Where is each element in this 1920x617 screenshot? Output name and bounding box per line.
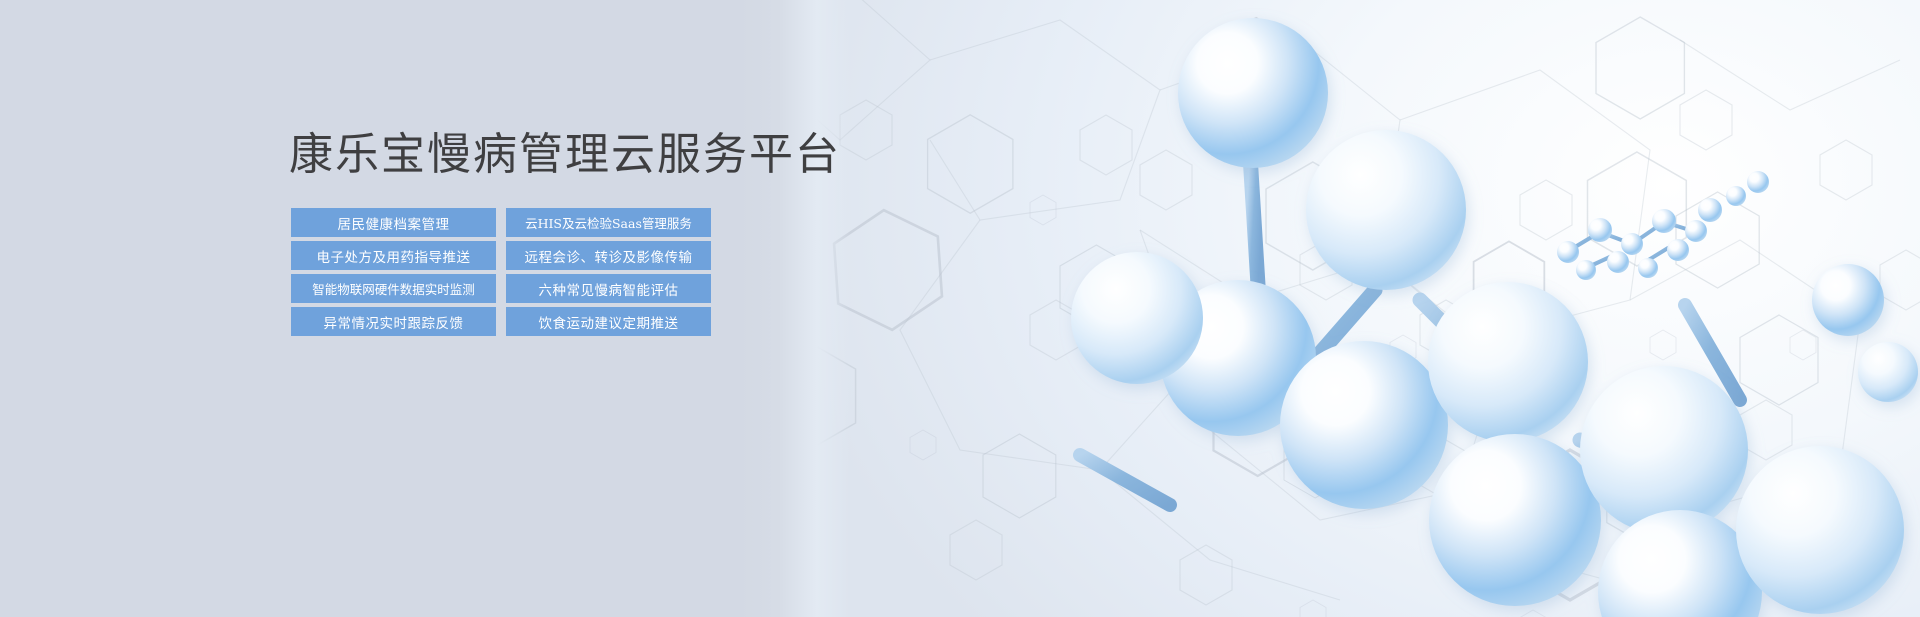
- page-title: 康乐宝慢病管理云服务平台: [289, 118, 841, 182]
- feature-item-anomaly-tracking[interactable]: 异常情况实时跟踪反馈: [291, 307, 496, 336]
- feature-item-diet-exercise-advice[interactable]: 饮食运动建议定期推送: [506, 307, 711, 336]
- feature-item-cloud-his-saas[interactable]: 云HIS及云检验Saas管理服务: [506, 208, 711, 237]
- feature-item-resident-health-records[interactable]: 居民健康档案管理: [291, 208, 496, 237]
- molecule-spheres-icon: [780, 0, 1920, 617]
- hero-banner: 康乐宝慢病管理云服务平台 居民健康档案管理 云HIS及云检验Saas管理服务 电…: [0, 0, 1920, 617]
- feature-item-iot-monitoring[interactable]: 智能物联网硬件数据实时监测: [291, 274, 496, 303]
- feature-item-e-prescription[interactable]: 电子处方及用药指导推送: [291, 241, 496, 270]
- feature-item-chronic-disease-assessment[interactable]: 六种常见慢病智能评估: [506, 274, 711, 303]
- feature-grid: 居民健康档案管理 云HIS及云检验Saas管理服务 电子处方及用药指导推送 远程…: [291, 208, 711, 336]
- molecule-artwork-panel: [780, 0, 1920, 617]
- feature-item-remote-consultation[interactable]: 远程会诊、转诊及影像传输: [506, 241, 711, 270]
